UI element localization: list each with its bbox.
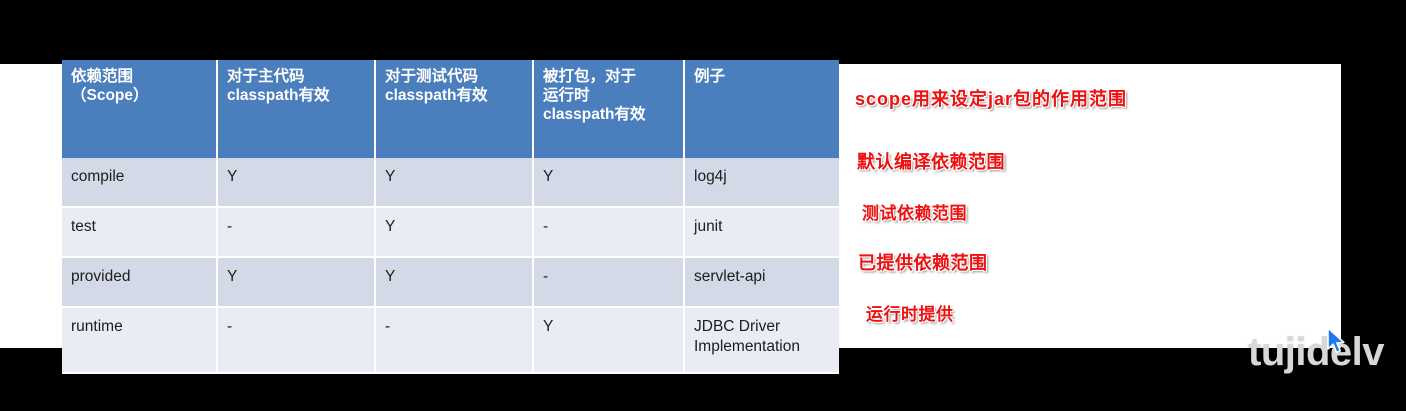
cell-main-classpath: - [217,307,375,373]
cell-example-line2: Implementation [694,338,800,355]
cell-example: log4j [684,158,839,207]
cell-example-line1: servlet-api [694,268,766,285]
watermark-text: tujidelv [1248,330,1384,375]
annotation-test-scope: 测试依赖范围 [862,199,967,224]
cell-scope: compile [62,158,217,207]
cell-scope: runtime [62,307,217,373]
cell-example: servlet-api [684,257,839,307]
table-row: provided Y Y - servlet-api [62,257,839,307]
annotation-compile-scope: 默认编译依赖范围 [857,148,1005,174]
column-header-runtime-classpath-line3: classpath有效 [543,106,675,125]
column-header-test-classpath-line2: classpath有效 [385,87,524,106]
cell-runtime-classpath: Y [533,158,684,207]
cell-example: JDBC Driver Implementation [684,307,839,373]
column-header-scope: 依赖范围 （Scope） [62,60,217,158]
cell-example-line1: junit [694,218,722,235]
column-header-runtime-classpath: 被打包，对于 运行时 classpath有效 [533,60,684,158]
cell-scope: provided [62,257,217,307]
column-header-main-classpath: 对于主代码 classpath有效 [217,60,375,158]
annotation-scope-purpose: scope用来设定jar包的作用范围 [855,85,1127,111]
column-header-example: 例子 [684,60,839,158]
cell-main-classpath: - [217,207,375,257]
annotation-runtime-scope: 运行时提供 [866,300,954,325]
column-header-scope-line1: 依赖范围 [71,68,208,87]
column-header-main-classpath-line1: 对于主代码 [227,68,366,87]
cell-runtime-classpath: - [533,207,684,257]
dependency-scope-table: 依赖范围 （Scope） 对于主代码 classpath有效 对于测试代码 cl… [62,60,839,374]
annotation-provided-scope: 已提供依赖范围 [858,249,988,275]
cell-runtime-classpath: - [533,257,684,307]
column-header-example-line1: 例子 [694,68,831,87]
cell-runtime-classpath: Y [533,307,684,373]
column-header-runtime-classpath-line2: 运行时 [543,87,675,106]
table-row: runtime - - Y JDBC Driver Implementation [62,307,839,373]
cell-main-classpath: Y [217,257,375,307]
column-header-test-classpath-line1: 对于测试代码 [385,68,524,87]
column-header-runtime-classpath-line1: 被打包，对于 [543,68,675,87]
table-header-row: 依赖范围 （Scope） 对于主代码 classpath有效 对于测试代码 cl… [62,60,839,158]
column-header-test-classpath: 对于测试代码 classpath有效 [375,60,533,158]
table-row: compile Y Y Y log4j [62,158,839,207]
cell-scope: test [62,207,217,257]
cell-example-line1: JDBC Driver [694,318,780,335]
cell-test-classpath: - [375,307,533,373]
cell-main-classpath: Y [217,158,375,207]
cell-test-classpath: Y [375,257,533,307]
cell-test-classpath: Y [375,158,533,207]
slide-canvas: 依赖范围 （Scope） 对于主代码 classpath有效 对于测试代码 cl… [0,0,1406,411]
column-header-main-classpath-line2: classpath有效 [227,87,366,106]
cell-example: junit [684,207,839,257]
cell-example-line1: log4j [694,168,727,185]
column-header-scope-line2: （Scope） [71,87,208,106]
cell-test-classpath: Y [375,207,533,257]
table-row: test - Y - junit [62,207,839,257]
